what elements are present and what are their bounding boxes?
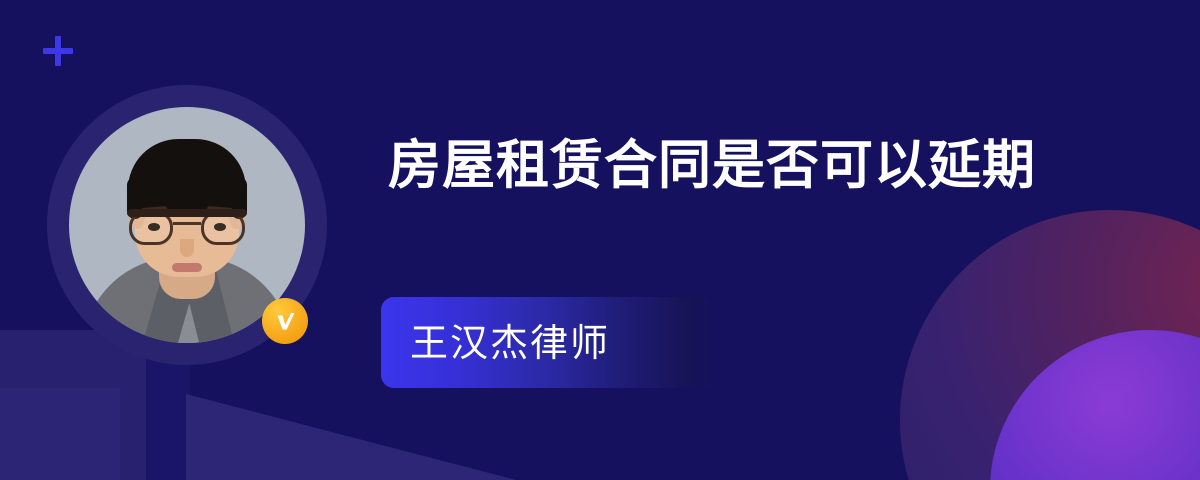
banner-root: 房屋租赁合同是否可以延期 王汉杰律师	[0, 0, 1200, 480]
verified-v-icon	[262, 298, 308, 344]
glasses-bridge	[173, 222, 201, 225]
avatar	[47, 85, 327, 365]
plus-icon	[43, 36, 73, 66]
glasses-browline	[127, 209, 247, 217]
lawyer-name-badge[interactable]: 王汉杰律师	[381, 297, 715, 388]
portrait-mouth	[172, 263, 202, 272]
portrait-hair	[128, 139, 246, 213]
lawyer-name-label: 王汉杰律师	[410, 324, 610, 362]
deco-band-bottom-left-2	[0, 388, 120, 480]
page-title: 房屋租赁合同是否可以延期	[388, 128, 1078, 203]
portrait-glasses	[129, 211, 245, 245]
deco-triangle-bottom-left	[186, 394, 516, 480]
